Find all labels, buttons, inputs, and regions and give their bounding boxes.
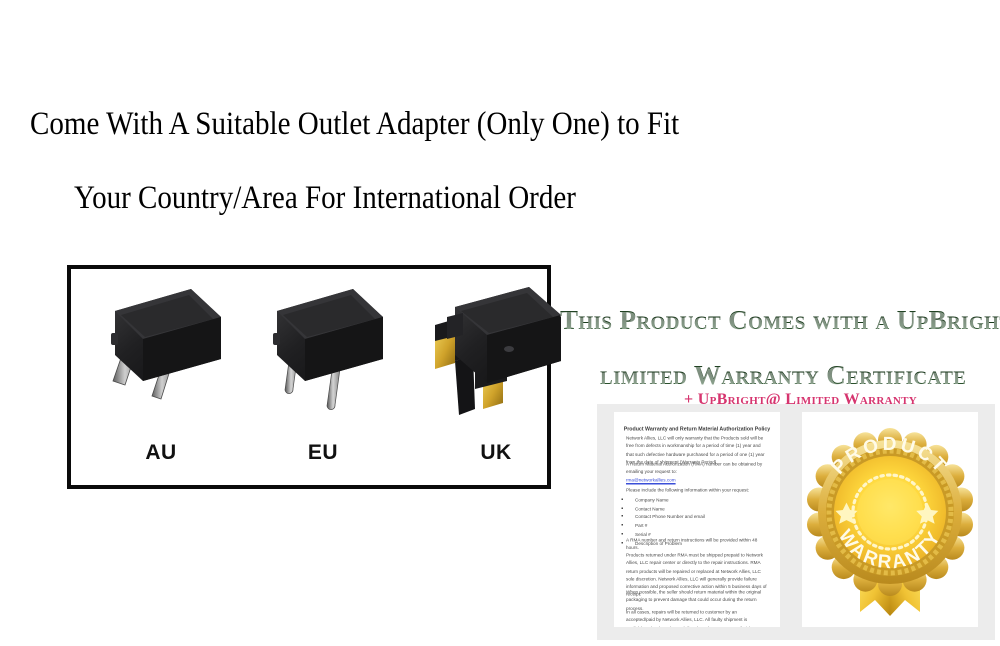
plug-adapter-uk: UK [411,269,581,485]
policy-paragraph: A Return Material Authorization (RMA) nu… [626,461,767,477]
product-warranty-seal-icon: PRODUCT WARRANTY [804,420,976,620]
policy-email-link: rma@networkallies.com [626,477,767,485]
policy-paragraph: Please include the following information… [626,487,767,495]
uk-plug-icon [411,277,581,427]
policy-document-page: Product Warranty and Return Material Aut… [614,412,780,627]
plug-adapter-au: AU [81,269,241,485]
warranty-heading-line-2: limited Warranty Certificate [600,360,966,391]
headline-line-2: Your Country/Area For International Orde… [74,180,576,217]
headline-line-1: Come With A Suitable Outlet Adapter (Onl… [30,106,679,143]
plug-adapter-photo-box: AU [67,265,551,489]
policy-paragraph: A RMA number and return instructions wil… [626,537,767,553]
au-plug-icon [81,277,241,427]
policy-document-title: Product Warranty and Return Material Aut… [614,426,780,433]
plug-label-uk: UK [411,441,581,465]
policy-paragraph: In all cases, repairs will be returned t… [626,609,767,627]
plug-label-au: AU [81,441,241,465]
warranty-seal-card: PRODUCT WARRANTY [802,412,978,627]
eu-plug-icon [243,277,403,427]
certificate-panel: Product Warranty and Return Material Aut… [597,404,995,640]
warranty-heading-line-1: This Product Comes with a UpBright® [560,305,1000,336]
plug-adapter-eu: EU [243,269,403,485]
plug-label-eu: EU [243,441,403,465]
